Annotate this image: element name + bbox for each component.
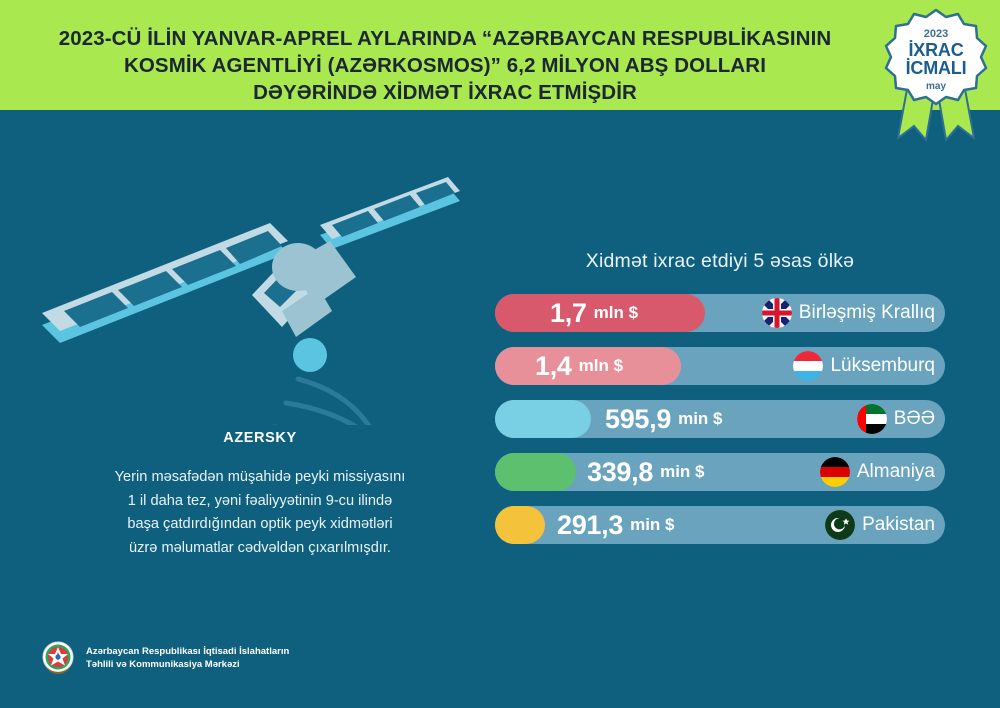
page-title: 2023-CÜ İLİN YANVAR-APREL AYLARINDA “AZƏ… — [30, 25, 860, 106]
bar-value-number: 595,9 — [605, 406, 671, 433]
bar-value-unit: min $ — [678, 409, 722, 429]
azersky-description: Yerin məsafədən müşahidə peyki missiyası… — [40, 466, 480, 560]
bar-label-group-germany: Almaniya — [820, 453, 935, 491]
germany-flag-icon — [820, 457, 850, 487]
bar-label-group-uk: Birləşmiş Krallıq — [762, 294, 935, 332]
bar-label-group-luxembourg: Lüksemburq — [793, 347, 935, 385]
title-line-2: KOSMİK AGENTLİYİ (AZƏRKOSMOS)” 6,2 MİLYO… — [30, 52, 860, 79]
country-name: BƏƏ — [894, 408, 935, 430]
country-name: Lüksemburq — [830, 355, 935, 377]
bar-value-unit: min $ — [660, 462, 704, 482]
bar-fill-germany — [495, 453, 576, 491]
bar-value-pakistan: 291,3 min $ — [557, 506, 674, 544]
bar-value-number: 339,8 — [587, 459, 653, 486]
country-name: Birləşmiş Krallıq — [799, 302, 935, 324]
bar-value-number: 291,3 — [557, 512, 623, 539]
luxembourg-flag-icon — [793, 351, 823, 381]
table-row: 291,3 min $ Pakistan — [495, 506, 945, 544]
infographic-page: 2023-CÜ İLİN YANVAR-APREL AYLARINDA “AZƏ… — [0, 0, 1000, 708]
table-row: 339,8 min $ Almaniya — [495, 453, 945, 491]
uk-flag-icon — [762, 298, 792, 328]
footer-line-2: Təhlili və Kommunikasiya Mərkəzi — [86, 658, 289, 671]
bar-value-number: 1,7 — [550, 300, 587, 327]
azersky-line-2: 1 il daha tez, yəni fəaliyyətinin 9-cu i… — [40, 490, 480, 514]
bar-value-uae: 595,9 min $ — [605, 400, 722, 438]
bar-value-unit: min $ — [630, 515, 674, 535]
country-bar-chart: 1,7 mln $ — [495, 294, 945, 559]
bar-label-group-uae: BƏƏ — [857, 400, 935, 438]
uae-flag-icon — [857, 404, 887, 434]
export-review-badge: 2023 İXRAC İCMALI may — [880, 8, 992, 143]
bar-value-germany: 339,8 min $ — [587, 453, 704, 491]
bar-value-unit: mln $ — [594, 303, 638, 323]
satellite-icon — [20, 115, 480, 425]
footer-branding: Azərbaycan Respublikası İqtisadi İslahat… — [40, 640, 289, 676]
badge-rosette-icon — [880, 8, 992, 112]
azersky-line-3: başa çatdırdığından optik peyk xidmətlər… — [40, 513, 480, 537]
table-row: 595,9 min $ BƏƏ — [495, 400, 945, 438]
bar-value-luxembourg: 1,4 mln $ — [535, 347, 623, 385]
bar-value-uk: 1,7 mln $ — [550, 294, 638, 332]
azersky-line-4: üzrə məlumatlar cədvəldən çıxarılmışdır. — [40, 537, 480, 561]
bar-fill-uae — [495, 400, 591, 438]
title-line-1: 2023-CÜ İLİN YANVAR-APREL AYLARINDA “AZƏ… — [30, 25, 860, 52]
table-row: 1,4 mln $ Lüksemburq — [495, 347, 945, 385]
bar-value-unit: mln $ — [579, 356, 623, 376]
pakistan-flag-icon — [825, 510, 855, 540]
bar-value-number: 1,4 — [535, 353, 572, 380]
table-row: 1,7 mln $ — [495, 294, 945, 332]
azerbaijan-state-emblem-icon — [40, 640, 76, 676]
azersky-line-1: Yerin məsafədən müşahidə peyki missiyası… — [40, 466, 480, 490]
title-line-3: DƏYƏRİNDƏ XİDMƏT İXRAC ETMİŞDİR — [30, 79, 860, 106]
footer-line-1: Azərbaycan Respublikası İqtisadi İslahat… — [86, 645, 289, 658]
country-name: Pakistan — [862, 514, 935, 536]
bar-fill-pakistan — [495, 506, 545, 544]
header-banner: 2023-CÜ İLİN YANVAR-APREL AYLARINDA “AZƏ… — [0, 0, 1000, 110]
footer-org-name: Azərbaycan Respublikası İqtisadi İslahat… — [86, 645, 289, 671]
bar-label-group-pakistan: Pakistan — [825, 506, 935, 544]
azersky-title: AZERSKY — [40, 430, 480, 446]
chart-title: Xidmət ixrac etdiyi 5 əsas ölkə — [495, 250, 945, 273]
country-name: Almaniya — [857, 461, 935, 483]
